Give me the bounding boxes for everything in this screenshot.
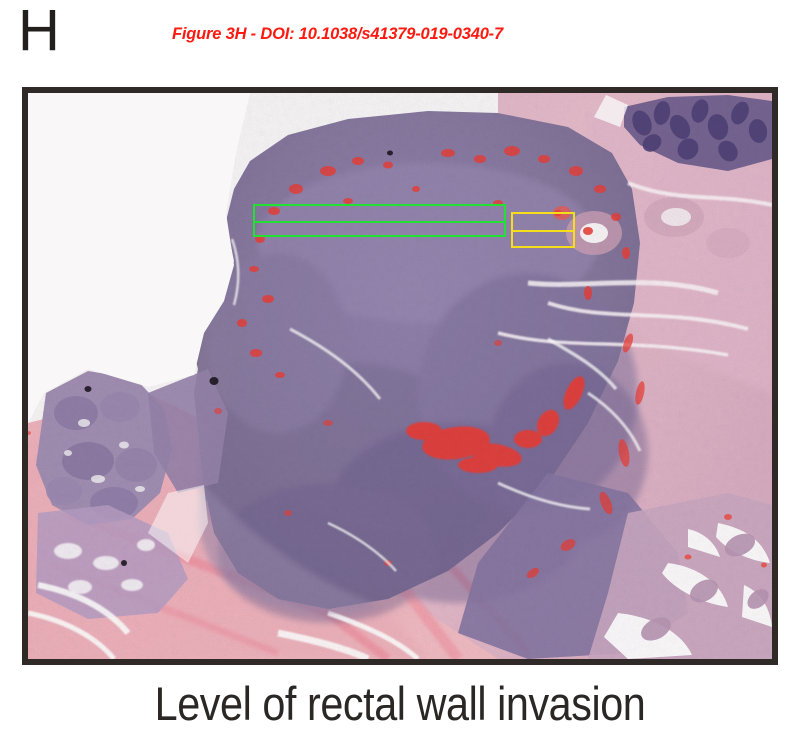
panel-label: H [18, 2, 60, 60]
slide-frame [22, 87, 778, 665]
green-annotation-box[interactable] [253, 204, 506, 237]
yellow-box-divider [513, 230, 573, 232]
green-box-divider [255, 221, 504, 223]
yellow-annotation-box[interactable] [511, 212, 575, 248]
figure-caption: Level of rectal wall invasion [48, 676, 752, 731]
histopathology-image [28, 93, 772, 659]
tissue-rendering [28, 93, 772, 659]
figure-citation: Figure 3H - DOI: 10.1038/s41379-019-0340… [172, 25, 503, 44]
